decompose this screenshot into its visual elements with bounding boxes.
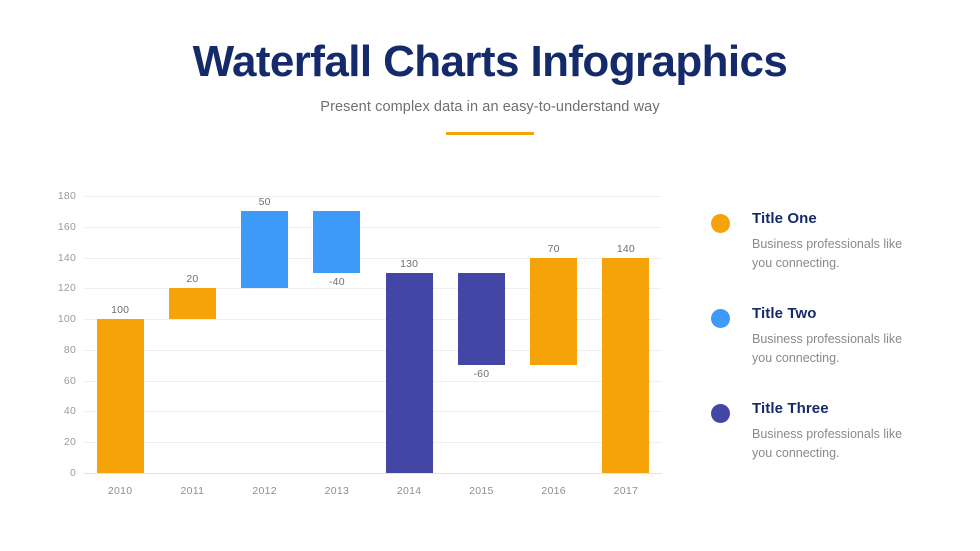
x-axis-tick-label: 2012 xyxy=(252,485,277,497)
chart-bar[interactable]: 140 xyxy=(602,258,649,473)
chart-gridline xyxy=(84,196,662,197)
y-axis-tick-label: 60 xyxy=(64,375,76,387)
bar-value-label: -40 xyxy=(329,276,345,288)
x-axis-tick-label: 2013 xyxy=(325,485,350,497)
legend-item[interactable]: Title ThreeBusiness professionals like y… xyxy=(711,400,951,463)
legend-item-title: Title Two xyxy=(752,305,951,323)
bar-value-label: -60 xyxy=(473,368,489,380)
y-axis-tick-label: 40 xyxy=(64,405,76,417)
chart-bar[interactable]: -40 xyxy=(313,211,360,273)
slide-header: Waterfall Charts Infographics Present co… xyxy=(0,38,980,135)
y-axis-tick-label: 80 xyxy=(64,344,76,356)
y-axis-tick-label: 140 xyxy=(58,252,76,264)
chart-legend: Title OneBusiness professionals like you… xyxy=(711,210,951,463)
slide-canvas: Waterfall Charts Infographics Present co… xyxy=(0,0,980,551)
y-axis-tick-label: 120 xyxy=(58,282,76,294)
chart-bar[interactable]: 130 xyxy=(386,273,433,473)
x-axis-tick-label: 2010 xyxy=(108,485,133,497)
legend-item[interactable]: Title OneBusiness professionals like you… xyxy=(711,210,951,273)
bar-value-label: 130 xyxy=(400,258,418,270)
legend-item-description: Business professionals like you connecti… xyxy=(752,235,922,273)
waterfall-chart: 0204060801001201401601801002010202011502… xyxy=(50,186,680,496)
legend-color-dot-icon xyxy=(711,309,730,328)
chart-bar[interactable]: 20 xyxy=(169,288,216,319)
legend-color-dot-icon xyxy=(711,214,730,233)
chart-gridline xyxy=(84,473,662,474)
y-axis-tick-label: 180 xyxy=(58,190,76,202)
title-divider xyxy=(446,132,534,135)
y-axis-tick-label: 160 xyxy=(58,221,76,233)
y-axis-tick-label: 20 xyxy=(64,436,76,448)
legend-item-description: Business professionals like you connecti… xyxy=(752,425,922,463)
chart-bar[interactable]: -60 xyxy=(458,273,505,365)
bar-value-label: 50 xyxy=(259,196,271,208)
legend-item-description: Business professionals like you connecti… xyxy=(752,330,922,368)
chart-gridline xyxy=(84,442,662,443)
x-axis-tick-label: 2015 xyxy=(469,485,494,497)
legend-item-title: Title Three xyxy=(752,400,951,418)
x-axis-tick-label: 2016 xyxy=(541,485,566,497)
chart-gridline xyxy=(84,411,662,412)
bar-value-label: 20 xyxy=(186,273,198,285)
bar-value-label: 70 xyxy=(548,243,560,255)
bar-value-label: 100 xyxy=(111,304,129,316)
chart-gridline xyxy=(84,381,662,382)
y-axis-tick-label: 100 xyxy=(58,313,76,325)
x-axis-tick-label: 2014 xyxy=(397,485,422,497)
x-axis-tick-label: 2011 xyxy=(180,485,204,497)
legend-item-title: Title One xyxy=(752,210,951,228)
chart-gridline xyxy=(84,227,662,228)
chart-bar[interactable]: 70 xyxy=(530,258,577,366)
x-axis-tick-label: 2017 xyxy=(614,485,639,497)
bar-value-label: 140 xyxy=(617,243,635,255)
legend-color-dot-icon xyxy=(711,404,730,423)
page-subtitle: Present complex data in an easy-to-under… xyxy=(0,99,980,115)
y-axis-tick-label: 0 xyxy=(70,467,76,479)
page-title: Waterfall Charts Infographics xyxy=(0,38,980,86)
chart-bar[interactable]: 100 xyxy=(97,319,144,473)
chart-bar[interactable]: 50 xyxy=(241,211,288,288)
chart-plot-area: 0204060801001201401601801002010202011502… xyxy=(84,196,662,473)
legend-item[interactable]: Title TwoBusiness professionals like you… xyxy=(711,305,951,368)
